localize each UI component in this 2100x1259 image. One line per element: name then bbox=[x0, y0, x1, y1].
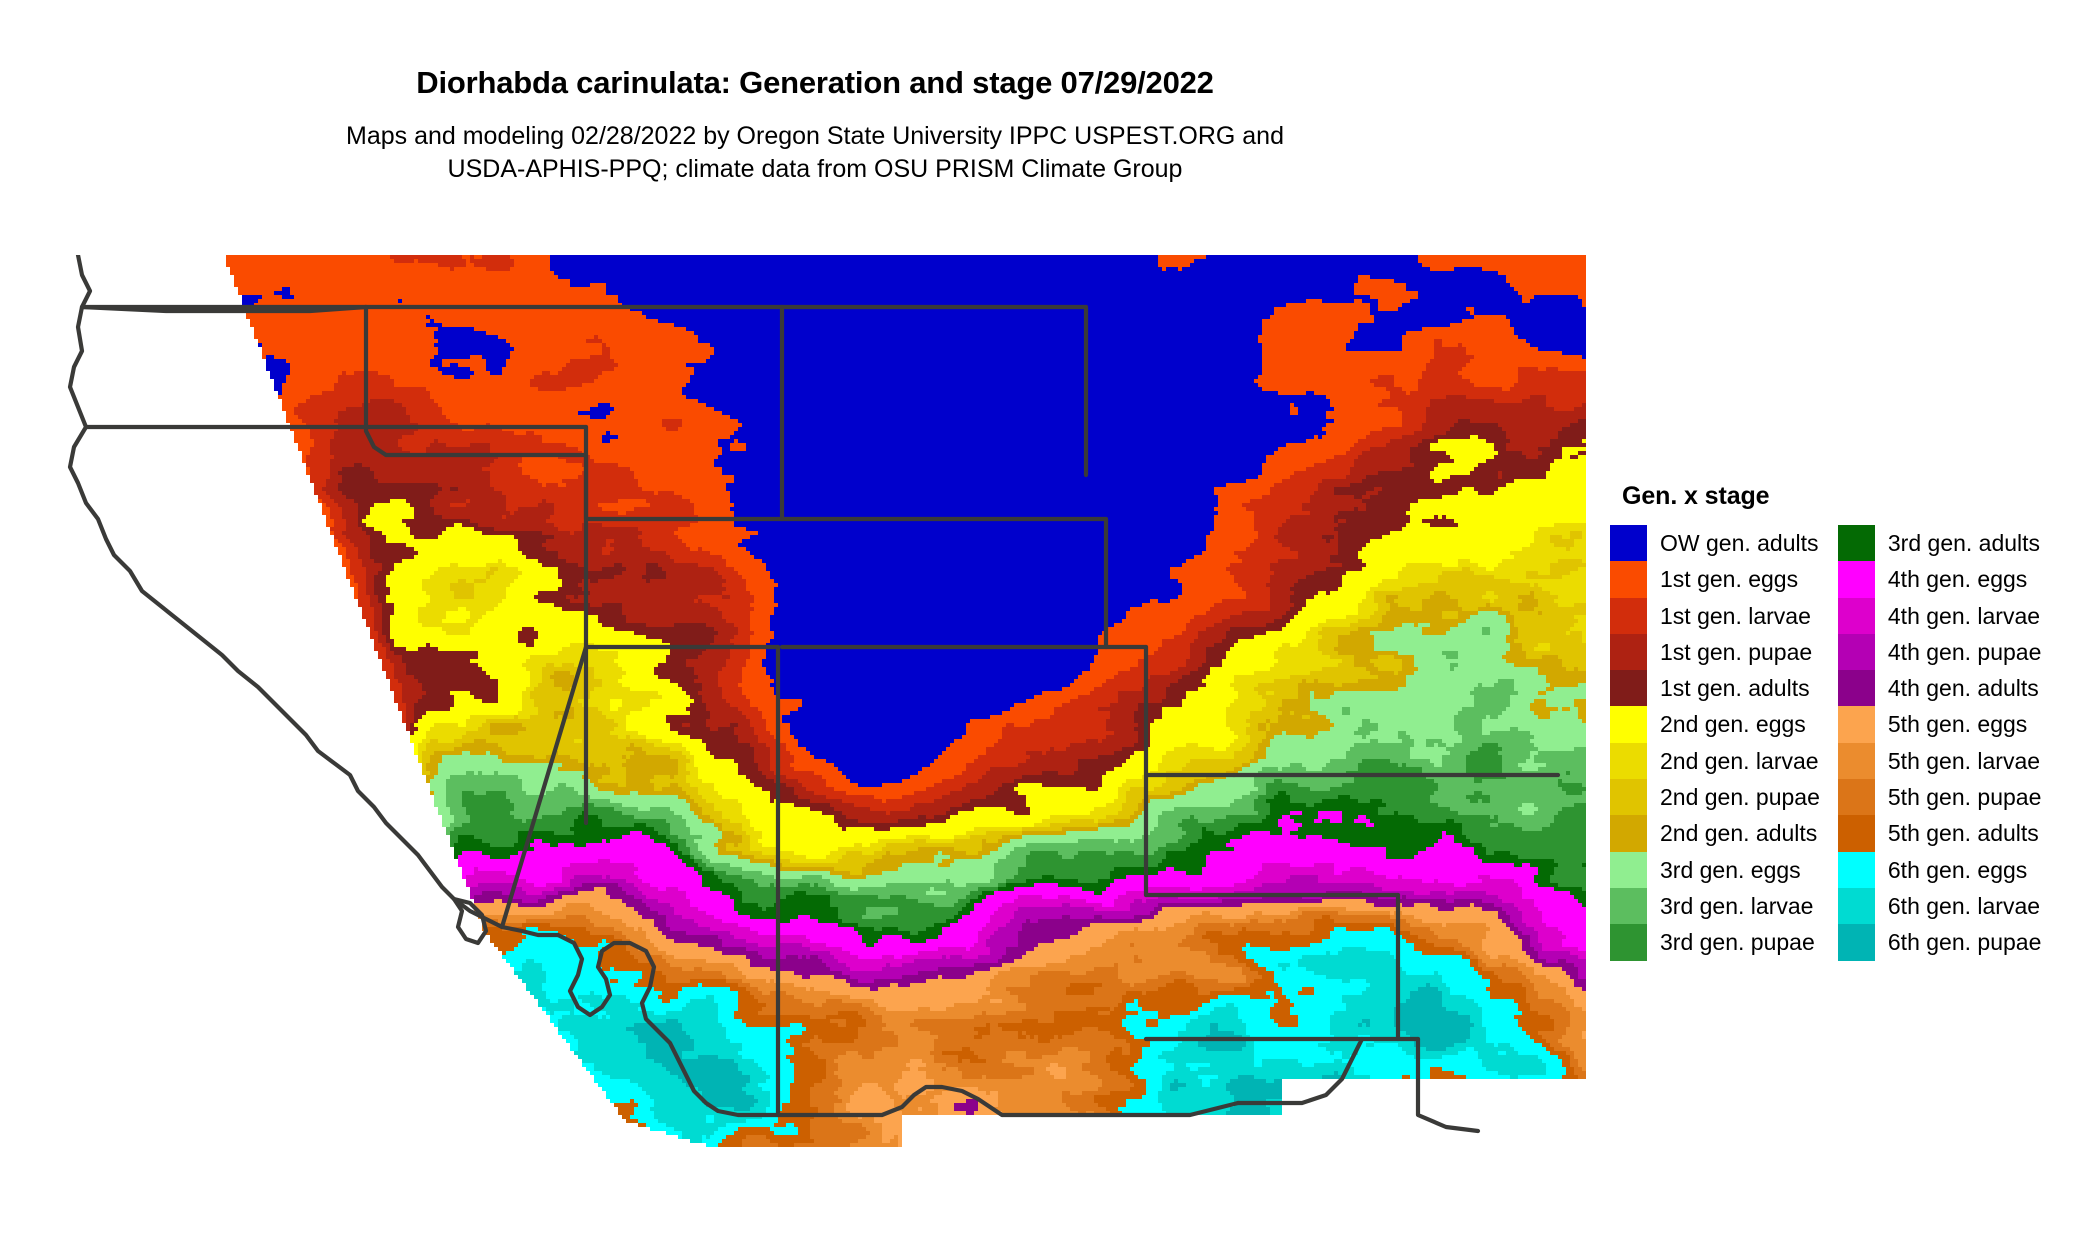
legend-swatch bbox=[1610, 706, 1647, 742]
legend-swatch bbox=[1838, 598, 1875, 634]
legend-swatch bbox=[1838, 743, 1875, 779]
legend-label: 5th gen. pupae bbox=[1888, 779, 2041, 815]
legend-swatch bbox=[1838, 779, 1875, 815]
legend-label: 6th gen. eggs bbox=[1888, 852, 2041, 888]
legend-label-stack-2: 3rd gen. adults4th gen. eggs4th gen. lar… bbox=[1888, 525, 2041, 961]
map-figure[interactable] bbox=[38, 255, 1594, 1195]
legend-label: 3rd gen. pupae bbox=[1660, 924, 1820, 960]
legend-swatch bbox=[1610, 888, 1647, 924]
legend-label: 5th gen. adults bbox=[1888, 815, 2041, 851]
legend-panel: Gen. x stage OW gen. adults1st gen. eggs… bbox=[1610, 482, 2080, 961]
legend-label-stack-1: OW gen. adults1st gen. eggs1st gen. larv… bbox=[1660, 525, 1820, 961]
legend-label: 4th gen. adults bbox=[1888, 670, 2041, 706]
legend-swatch bbox=[1838, 852, 1875, 888]
map-subtitle-line1: Maps and modeling 02/28/2022 by Oregon S… bbox=[0, 120, 1630, 153]
legend-column-1: OW gen. adults1st gen. eggs1st gen. larv… bbox=[1610, 525, 1820, 961]
title-block: Diorhabda carinulata: Generation and sta… bbox=[0, 0, 1630, 185]
legend-swatch bbox=[1610, 779, 1647, 815]
legend-label: 4th gen. larvae bbox=[1888, 598, 2041, 634]
legend-swatch bbox=[1610, 670, 1647, 706]
legend-label: 6th gen. pupae bbox=[1888, 924, 2041, 960]
legend-label: 1st gen. adults bbox=[1660, 670, 1820, 706]
legend-swatch bbox=[1838, 924, 1875, 960]
map-page: Diorhabda carinulata: Generation and sta… bbox=[0, 0, 2100, 1259]
legend-swatch bbox=[1610, 598, 1647, 634]
legend-swatch bbox=[1610, 634, 1647, 670]
legend-label: OW gen. adults bbox=[1660, 525, 1820, 561]
legend-swatch bbox=[1838, 706, 1875, 742]
legend-swatch bbox=[1610, 815, 1647, 851]
legend-label: 3rd gen. eggs bbox=[1660, 852, 1820, 888]
map-subtitle-line2: USDA-APHIS-PPQ; climate data from OSU PR… bbox=[0, 153, 1630, 186]
legend-label: 2nd gen. pupae bbox=[1660, 779, 1820, 815]
legend-swatch bbox=[1838, 670, 1875, 706]
legend-label: 1st gen. pupae bbox=[1660, 634, 1820, 670]
legend-swatch-stack-2 bbox=[1838, 525, 1875, 961]
raster-map-canvas[interactable] bbox=[38, 255, 1594, 1195]
page-title: Diorhabda carinulata: Generation and sta… bbox=[0, 66, 1630, 100]
legend-swatch bbox=[1610, 561, 1647, 597]
legend-title: Gen. x stage bbox=[1622, 482, 2080, 511]
legend-column-2: 3rd gen. adults4th gen. eggs4th gen. lar… bbox=[1838, 525, 2041, 961]
legend-label: 3rd gen. adults bbox=[1888, 525, 2041, 561]
legend-label: 1st gen. larvae bbox=[1660, 598, 1820, 634]
legend-label: 4th gen. eggs bbox=[1888, 561, 2041, 597]
legend-swatch bbox=[1838, 634, 1875, 670]
legend-swatch bbox=[1610, 852, 1647, 888]
legend-label: 3rd gen. larvae bbox=[1660, 888, 1820, 924]
legend-swatch-stack-1 bbox=[1610, 525, 1647, 961]
legend-label: 1st gen. eggs bbox=[1660, 561, 1820, 597]
legend-swatch bbox=[1610, 525, 1647, 561]
legend-columns: OW gen. adults1st gen. eggs1st gen. larv… bbox=[1610, 525, 2080, 961]
legend-label: 2nd gen. larvae bbox=[1660, 743, 1820, 779]
legend-swatch bbox=[1838, 815, 1875, 851]
legend-label: 4th gen. pupae bbox=[1888, 634, 2041, 670]
legend-label: 6th gen. larvae bbox=[1888, 888, 2041, 924]
legend-swatch bbox=[1838, 888, 1875, 924]
legend-label: 5th gen. eggs bbox=[1888, 706, 2041, 742]
legend-swatch bbox=[1610, 743, 1647, 779]
legend-swatch bbox=[1610, 924, 1647, 960]
legend-label: 2nd gen. eggs bbox=[1660, 706, 1820, 742]
legend-label: 5th gen. larvae bbox=[1888, 743, 2041, 779]
legend-label: 2nd gen. adults bbox=[1660, 815, 1820, 851]
legend-swatch bbox=[1838, 561, 1875, 597]
map-subtitle: Maps and modeling 02/28/2022 by Oregon S… bbox=[0, 120, 1630, 185]
legend-swatch bbox=[1838, 525, 1875, 561]
